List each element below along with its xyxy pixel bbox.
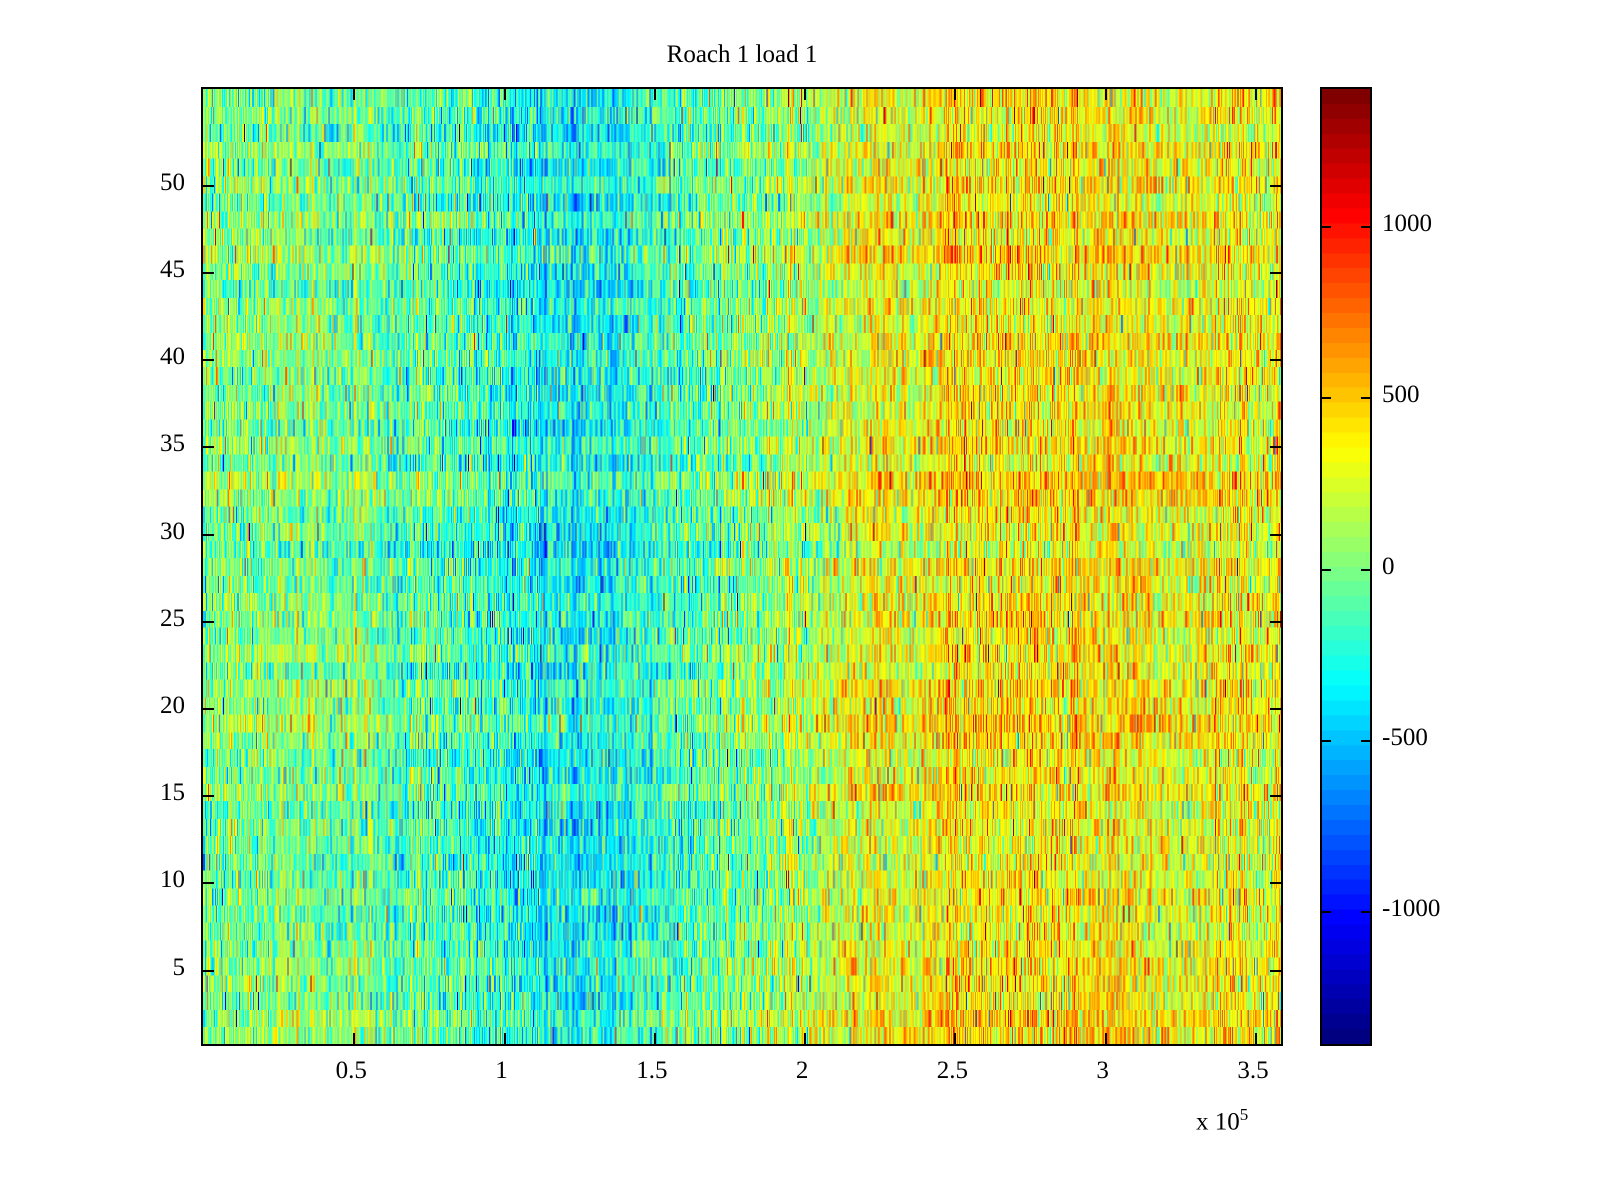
colorbar-tick-mark xyxy=(1322,397,1331,399)
y-tick-mark xyxy=(203,359,214,361)
figure-canvas: Roach 1 load 1 5101520253035404550 0.511… xyxy=(0,0,1600,1200)
x-tick-mark-top xyxy=(1105,89,1107,100)
y-tick-label: 35 xyxy=(105,431,185,456)
x-tick-mark-top xyxy=(504,89,506,100)
x-tick-label: 1 xyxy=(452,1058,552,1083)
y-tick-mark-right xyxy=(1270,795,1281,797)
colorbar-tick-mark xyxy=(1322,226,1331,228)
x-exponent-base: x 10 xyxy=(1196,1108,1240,1135)
colorbar-tick-mark-right xyxy=(1361,911,1370,913)
y-tick-label: 15 xyxy=(105,780,185,805)
x-tick-mark xyxy=(1105,1033,1107,1044)
colorbar-gradient xyxy=(1322,89,1370,1044)
y-tick-mark xyxy=(203,882,214,884)
y-tick-mark xyxy=(203,272,214,274)
x-tick-mark-top xyxy=(804,89,806,100)
y-tick-label: 30 xyxy=(105,519,185,544)
y-tick-mark xyxy=(203,446,214,448)
y-tick-mark xyxy=(203,795,214,797)
heatmap-image xyxy=(203,89,1281,1044)
y-tick-mark-right xyxy=(1270,708,1281,710)
y-tick-mark-right xyxy=(1270,359,1281,361)
y-tick-mark-right xyxy=(1270,446,1281,448)
x-exponent-power: 5 xyxy=(1240,1105,1249,1124)
x-axis-exponent-label: x 105 xyxy=(1196,1105,1248,1136)
colorbar-tick-mark-right xyxy=(1361,397,1370,399)
colorbar-tick-mark-right xyxy=(1361,569,1370,571)
x-tick-mark xyxy=(353,1033,355,1044)
x-tick-mark-top xyxy=(1255,89,1257,100)
y-tick-label: 50 xyxy=(105,170,185,195)
y-tick-mark-right xyxy=(1270,185,1281,187)
colorbar-tick-label: 0 xyxy=(1382,554,1395,579)
x-tick-mark-top xyxy=(654,89,656,100)
x-tick-label: 0.5 xyxy=(301,1058,401,1083)
heatmap-axes[interactable] xyxy=(201,87,1283,1046)
colorbar-tick-mark-right xyxy=(1361,226,1370,228)
y-tick-mark xyxy=(203,621,214,623)
colorbar-tick-mark-right xyxy=(1361,740,1370,742)
x-tick-mark-top xyxy=(353,89,355,100)
x-tick-label: 3 xyxy=(1053,1058,1153,1083)
y-tick-mark-right xyxy=(1270,882,1281,884)
y-tick-mark xyxy=(203,708,214,710)
y-tick-label: 45 xyxy=(105,257,185,282)
colorbar-tick-mark xyxy=(1322,740,1331,742)
x-tick-mark xyxy=(1255,1033,1257,1044)
colorbar[interactable] xyxy=(1320,87,1372,1046)
y-tick-mark xyxy=(203,185,214,187)
x-tick-mark xyxy=(954,1033,956,1044)
x-tick-label: 3.5 xyxy=(1203,1058,1303,1083)
x-tick-mark xyxy=(654,1033,656,1044)
x-tick-mark xyxy=(504,1033,506,1044)
y-tick-mark-right xyxy=(1270,621,1281,623)
x-tick-label: 2.5 xyxy=(902,1058,1002,1083)
y-tick-label: 40 xyxy=(105,344,185,369)
x-tick-label: 1.5 xyxy=(602,1058,702,1083)
y-tick-mark xyxy=(203,970,214,972)
colorbar-tick-label: -1000 xyxy=(1382,896,1440,921)
y-tick-label: 25 xyxy=(105,606,185,631)
y-tick-mark xyxy=(203,534,214,536)
colorbar-tick-label: -500 xyxy=(1382,725,1428,750)
x-tick-label: 2 xyxy=(752,1058,852,1083)
page-title: Roach 1 load 1 xyxy=(201,40,1283,70)
colorbar-tick-mark xyxy=(1322,911,1331,913)
colorbar-tick-mark xyxy=(1322,569,1331,571)
colorbar-tick-label: 500 xyxy=(1382,382,1420,407)
colorbar-tick-label: 1000 xyxy=(1382,211,1432,236)
y-tick-label: 20 xyxy=(105,693,185,718)
y-tick-label: 10 xyxy=(105,867,185,892)
x-tick-mark-top xyxy=(954,89,956,100)
y-tick-mark-right xyxy=(1270,970,1281,972)
y-tick-mark-right xyxy=(1270,534,1281,536)
x-tick-mark xyxy=(804,1033,806,1044)
y-tick-label: 5 xyxy=(105,955,185,980)
y-tick-mark-right xyxy=(1270,272,1281,274)
